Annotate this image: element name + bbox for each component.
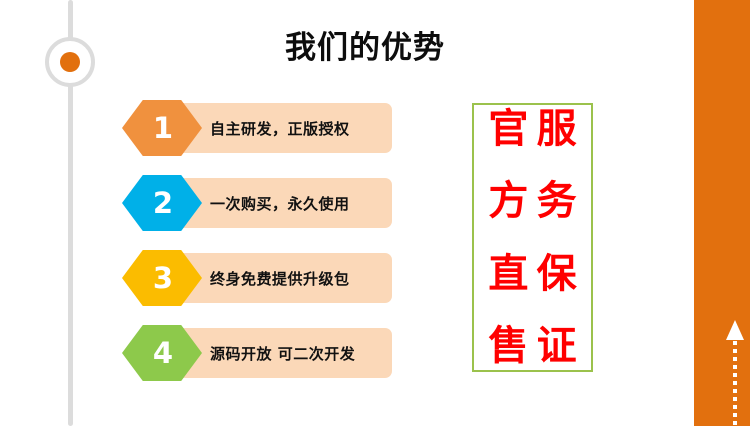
advantage-label: 源码开放 可二次开发 xyxy=(210,325,392,381)
advantage-number: 3 xyxy=(122,250,202,306)
slide-canvas: 我们的优势 1 自主研发，正版授权 2 一次购买，永久使用 3 终身免费提供升级… xyxy=(0,0,750,426)
advantage-number: 2 xyxy=(122,175,202,231)
page-title: 我们的优势 xyxy=(240,22,490,67)
list-item: 2 一次购买，永久使用 xyxy=(122,175,392,231)
list-item: 1 自主研发，正版授权 xyxy=(122,100,392,156)
slogan-char: 服 xyxy=(537,109,577,149)
slogan-char: 证 xyxy=(537,326,577,366)
slogan-char: 直 xyxy=(488,254,528,294)
slogan-char: 售 xyxy=(488,326,528,366)
advantage-label: 终身免费提供升级包 xyxy=(210,250,392,306)
list-item: 3 终身免费提供升级包 xyxy=(122,250,392,306)
advantage-number: 4 xyxy=(122,325,202,381)
slogan-char: 务 xyxy=(537,181,577,221)
advantage-label: 自主研发，正版授权 xyxy=(210,100,392,156)
slogan-column-2: 服 务 保 证 xyxy=(537,109,577,366)
advantage-label: 一次购买，永久使用 xyxy=(210,175,392,231)
slogan-box: 官 方 直 售 服 务 保 证 xyxy=(472,103,593,372)
slogan-char: 官 xyxy=(488,109,528,149)
up-arrow-icon xyxy=(726,320,744,340)
slogan-column-1: 官 方 直 售 xyxy=(488,109,528,366)
right-orange-band xyxy=(694,0,750,426)
advantage-number: 1 xyxy=(122,100,202,156)
timeline-node-dot xyxy=(60,52,80,72)
list-item: 4 源码开放 可二次开发 xyxy=(122,325,392,381)
slogan-char: 方 xyxy=(488,181,528,221)
timeline-node xyxy=(45,37,95,87)
up-arrow-stem-icon xyxy=(733,341,737,426)
slogan-char: 保 xyxy=(537,254,577,294)
